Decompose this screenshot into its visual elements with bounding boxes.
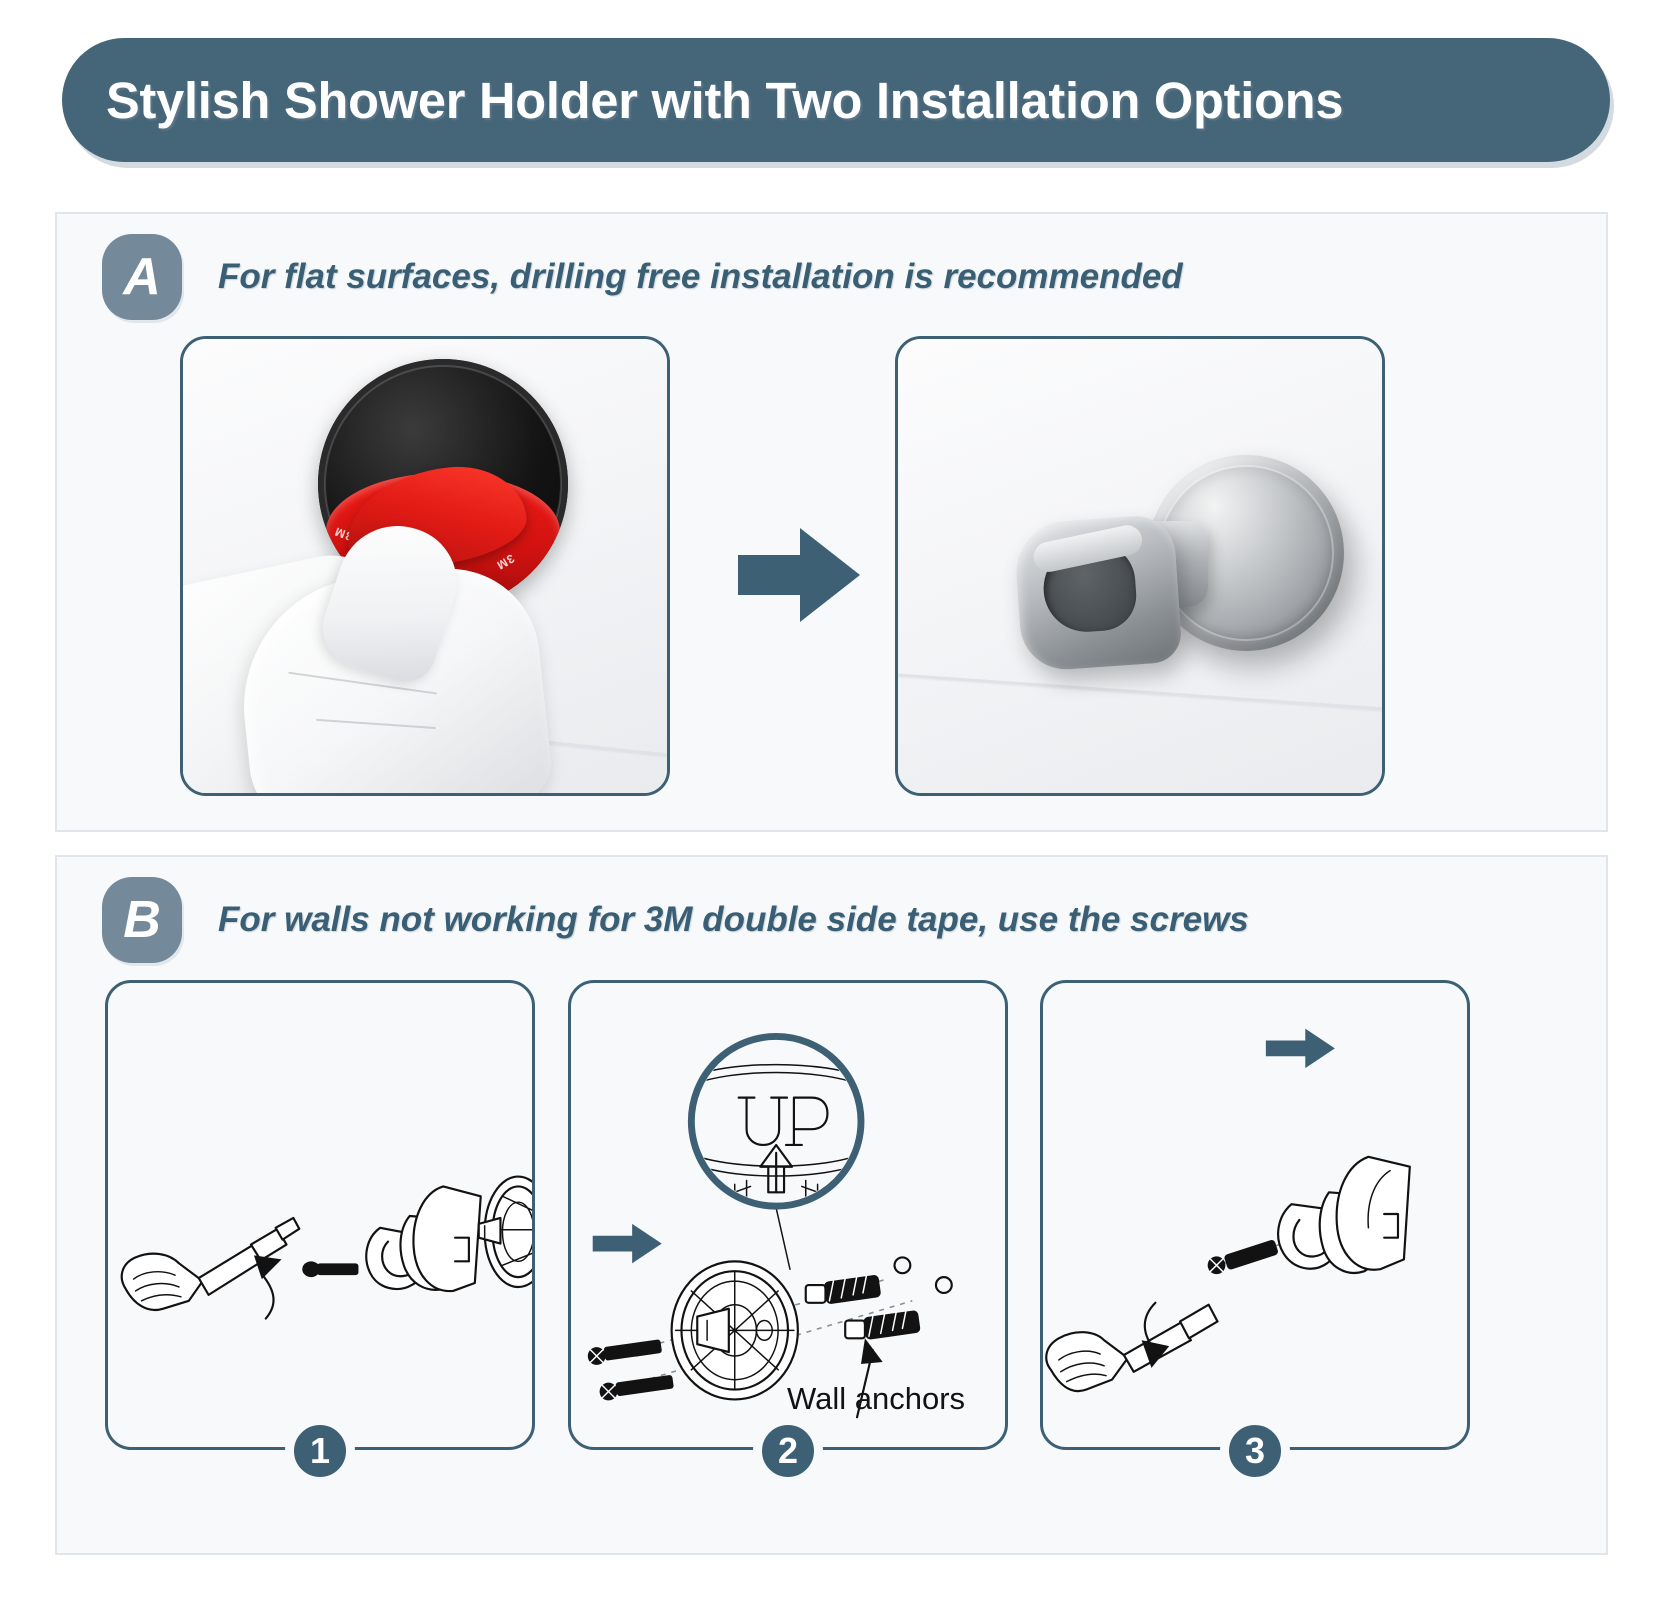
step-number-1: 1 — [288, 1419, 352, 1483]
section-a-badge: A — [102, 234, 182, 320]
screw-icon — [588, 1339, 662, 1365]
backplate-outline — [479, 1177, 532, 1287]
step-mount-backplate-card: Wall anchors 2 — [568, 980, 1008, 1450]
holder-cradle — [1013, 514, 1183, 673]
section-a-header: A For flat surfaces, drilling free insta… — [57, 214, 1606, 318]
section-b-caption: For walls not working for 3M double side… — [218, 900, 1249, 940]
section-b-header: B For walls not working for 3M double si… — [57, 857, 1606, 961]
screw-icon — [302, 1261, 358, 1277]
wall-anchor-icon — [845, 1309, 921, 1340]
glove-seam — [316, 719, 436, 729]
step-number-2: 2 — [756, 1419, 820, 1483]
section-b-badge: B — [102, 877, 182, 963]
step-number-3: 3 — [1223, 1419, 1287, 1483]
step-unscrew-card: 1 — [105, 980, 535, 1450]
drill-hole — [895, 1257, 911, 1273]
arrow-right-icon — [593, 1224, 662, 1263]
screwdriver-icon — [1046, 1305, 1217, 1391]
page-title: Stylish Shower Holder with Two Installat… — [106, 71, 1343, 130]
mounted-holder-photo — [895, 336, 1385, 796]
page-title-banner: Stylish Shower Holder with Two Installat… — [62, 38, 1610, 162]
holder-body-outline — [1278, 1157, 1410, 1273]
wall-anchors-label: Wall anchors — [787, 1381, 965, 1417]
step-attach-holder-card: 3 — [1040, 980, 1470, 1450]
wall-anchor-icon — [806, 1273, 882, 1304]
screw-icon — [1208, 1239, 1279, 1274]
holder-body-outline — [366, 1186, 480, 1291]
up-marking-callout — [687, 1036, 865, 1212]
rotate-ccw-arrow-icon — [254, 1255, 282, 1318]
step-3-diagram — [1043, 983, 1467, 1447]
tape-peel-photo: 3M VHB 3M — [180, 336, 670, 796]
section-a-caption: For flat surfaces, drilling free install… — [218, 257, 1183, 297]
step-1-diagram — [108, 983, 532, 1447]
step-2-diagram — [571, 983, 1005, 1447]
arrow-right-icon — [738, 528, 860, 622]
screw-icon — [600, 1375, 674, 1401]
arrow-right-icon — [1266, 1029, 1335, 1068]
drill-hole — [936, 1277, 952, 1293]
backplate-outline — [672, 1261, 798, 1399]
